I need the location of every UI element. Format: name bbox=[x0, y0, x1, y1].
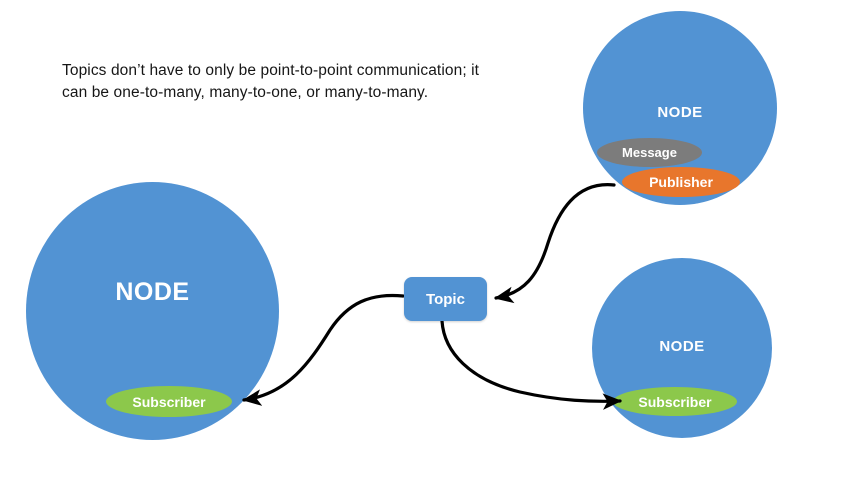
topic-box[interactable]: Topic bbox=[404, 277, 487, 321]
subscriber-left: Subscriber bbox=[106, 386, 232, 417]
diagram-canvas: Topics don’t have to only be point-to-po… bbox=[0, 0, 854, 480]
subscriber-left-label: Subscriber bbox=[132, 394, 205, 410]
node-left-label: NODE bbox=[26, 278, 279, 307]
publisher-label: Publisher bbox=[649, 174, 713, 190]
publisher-ellipse: Publisher bbox=[622, 167, 740, 197]
message-label: Message bbox=[622, 145, 677, 160]
topic-label: Topic bbox=[426, 291, 465, 308]
arrow-publisher-to-topic bbox=[496, 185, 614, 298]
caption-text: Topics don’t have to only be point-to-po… bbox=[62, 60, 482, 105]
subscriber-bottom-right-label: Subscriber bbox=[638, 394, 711, 410]
subscriber-bottom-right: Subscriber bbox=[613, 387, 737, 416]
node-top-right-label: NODE bbox=[583, 104, 777, 121]
node-bottom-right-label: NODE bbox=[592, 338, 772, 355]
message-ellipse: Message bbox=[597, 138, 702, 167]
